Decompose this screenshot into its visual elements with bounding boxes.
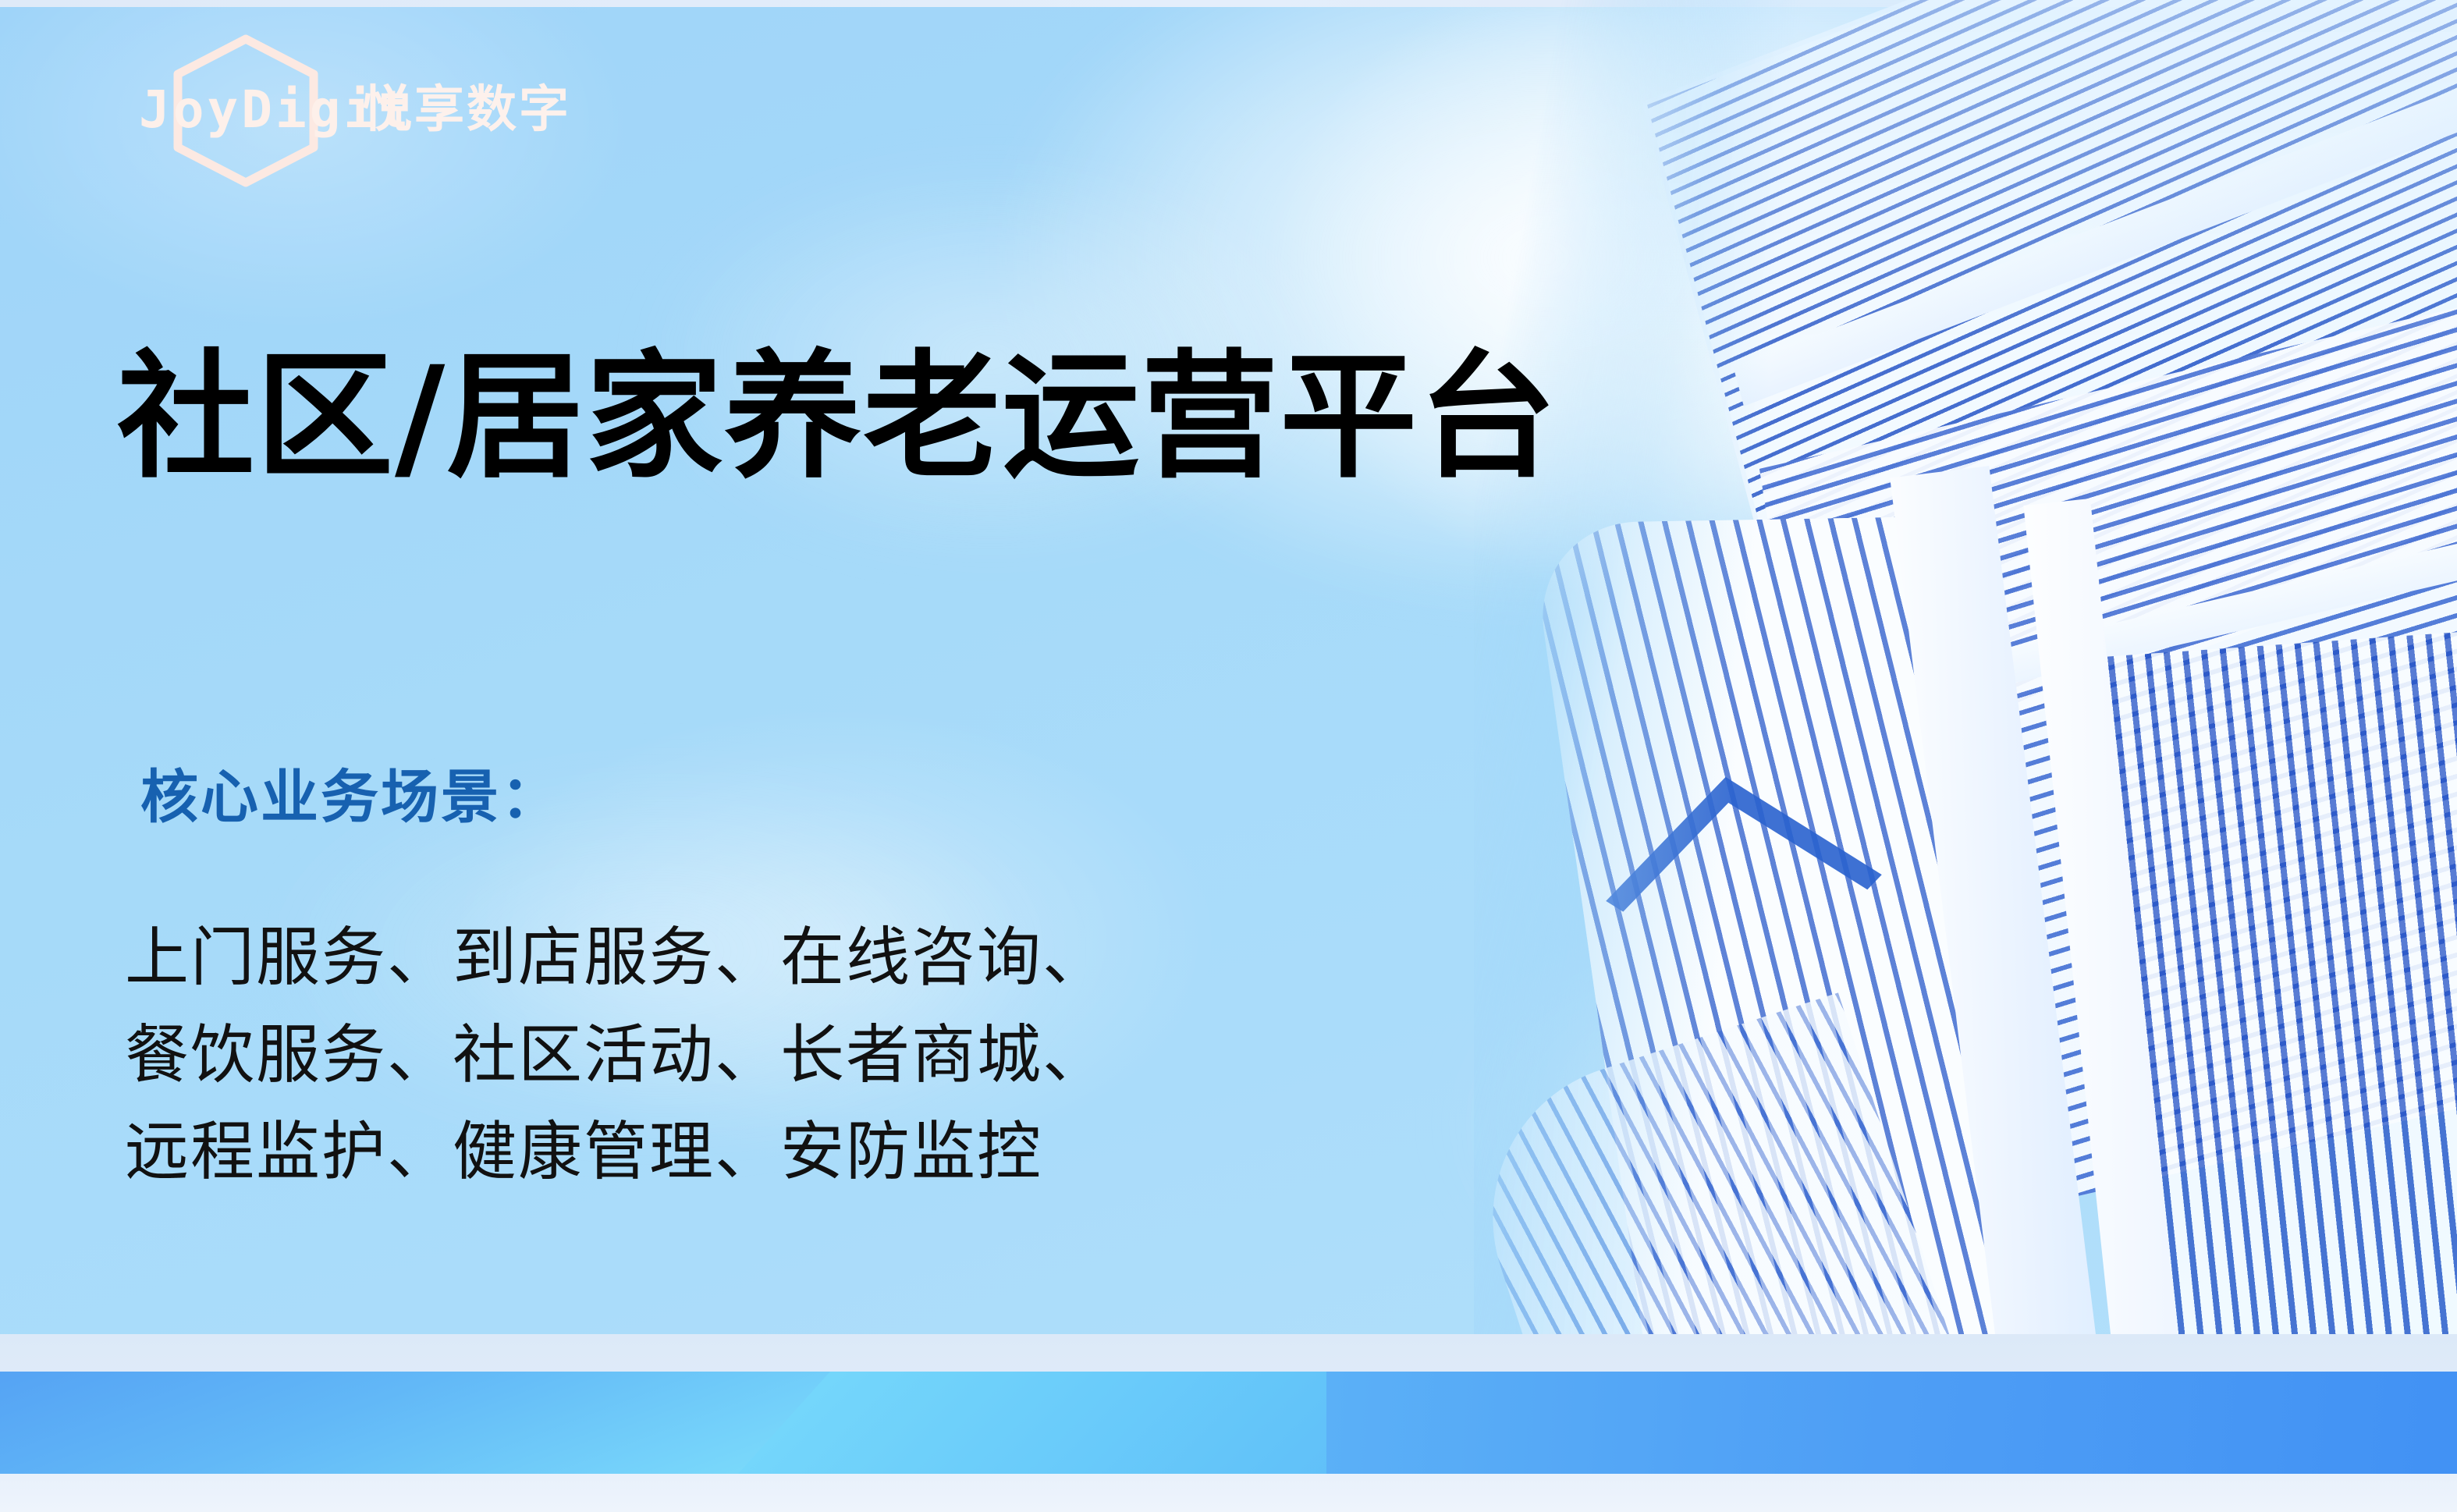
scenario-line: 餐饮服务、社区活动、长者商城、 [125, 1007, 1108, 1105]
slide-root: JoyDigit 悦享数字 社区/居家养老运营平台 核心业务场景： 上门服务、到… [0, 0, 2457, 1512]
scenario-line: 远程监护、健康管理、安防监控 [125, 1104, 1108, 1201]
brand-logo[interactable]: JoyDigit 悦享数字 [139, 69, 571, 151]
section-heading: 核心业务场景： [140, 763, 561, 832]
band-right-fill [1326, 1372, 2457, 1474]
bottom-decorative-band [0, 1334, 2457, 1512]
scenario-list: 上门服务、到店服务、在线咨询、 餐饮服务、社区活动、长者商城、 远程监护、健康管… [125, 910, 1108, 1201]
logo-mark: JoyDigit [139, 69, 342, 151]
page-title: 社区/居家养老运营平台 [117, 343, 1557, 492]
scenario-line: 上门服务、到店服务、在线咨询、 [125, 910, 1108, 1007]
photo-edge-haze [1474, 0, 2457, 1382]
logo-wordmark: JoyDigit [139, 84, 412, 136]
skyscraper-photo-right [1474, 0, 2457, 1382]
